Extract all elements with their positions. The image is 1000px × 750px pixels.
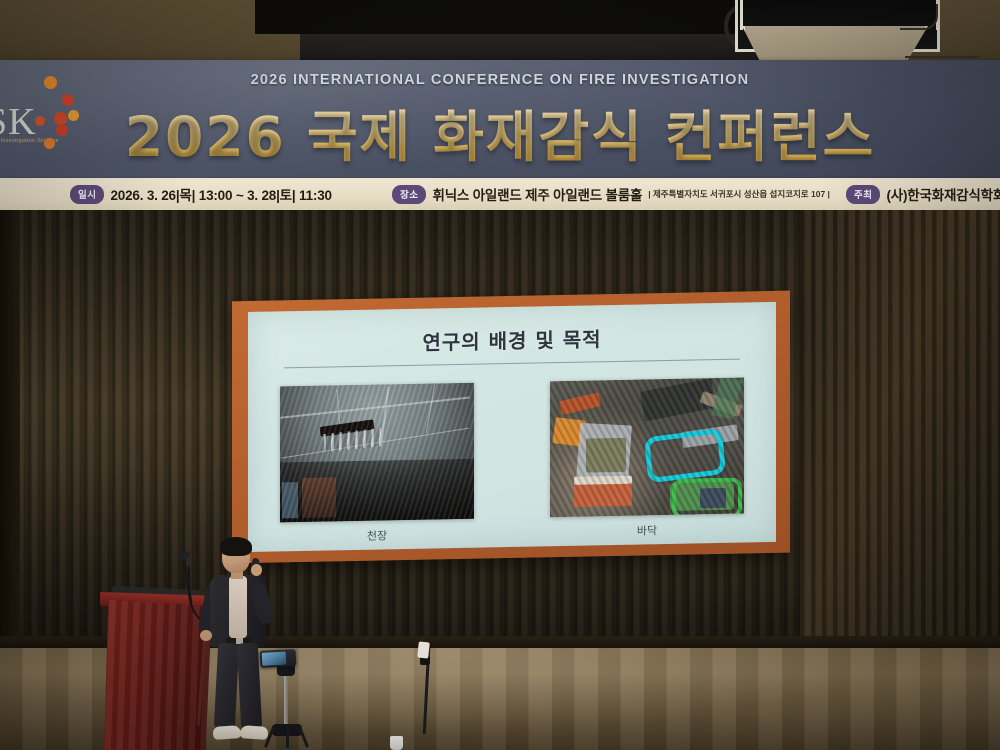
date-value: 2026. 3. 26|목| 13:00 ~ 3. 28|토| 11:30 [110, 184, 331, 204]
banner-english-title: 2026 INTERNATIONAL CONFERENCE ON FIRE IN… [0, 72, 1000, 88]
ceiling-shadow-zone [280, 459, 474, 523]
slide-photo-floor [550, 378, 744, 518]
caption-floor: 바닥 [550, 521, 744, 541]
tripod-legs [268, 726, 306, 750]
audience-phone [417, 641, 430, 658]
paper-cup [390, 736, 403, 750]
conference-banner: SK Fire Investigation Science 2026 INTER… [0, 60, 1000, 186]
projection-screen-frame: 연구의 배경 및 목적 [232, 291, 790, 564]
date-pill-label: 일시 [70, 185, 104, 204]
wall-edge-left [0, 210, 20, 640]
slide-photo-ceiling [280, 383, 474, 523]
cyan-annotation-box [644, 428, 726, 483]
banner-info-bar: 일시 2026. 3. 26|목| 13:00 ~ 3. 28|토| 11:30… [0, 178, 1000, 212]
presenter-shoe-left [213, 725, 242, 740]
slide-divider-rule [284, 359, 740, 369]
venue-address: | 제주특별자치도 서귀포시 성산읍 섭지코지로 107 | [648, 188, 830, 200]
presenter [196, 540, 278, 750]
projection-screen: 연구의 배경 및 목적 [248, 302, 776, 552]
caption-ceiling: 천장 [280, 526, 474, 546]
venue-value: 휘닉스 아일랜드 제주 아일랜드 볼룸홀 [432, 184, 642, 204]
green-annotation-box [672, 478, 742, 518]
presenter-hand-left [200, 630, 212, 641]
ceiling-rod [905, 56, 979, 58]
presenter-leg-right [237, 643, 262, 730]
venue-pill-label: 장소 [392, 185, 426, 204]
slide-title: 연구의 배경 및 목적 [248, 320, 776, 359]
fire-debris-floor-image [550, 378, 744, 518]
presenter-shirt [229, 576, 247, 638]
presenter-hand-right [251, 564, 262, 576]
presenter-hair [220, 537, 252, 556]
ceiling-photo-blue-panel [282, 482, 298, 518]
wall-panel-grain [800, 210, 1000, 640]
smartphone-screen [262, 652, 287, 666]
projector-cable [900, 4, 938, 30]
ceiling-exposed-lath [323, 428, 382, 452]
conference-photo-scene: HITACHI SK Fire Investigation Science 20… [0, 0, 1000, 750]
recording-smartphone [260, 649, 297, 668]
burnt-ceiling-image [280, 383, 474, 523]
presenter-shoe-right [240, 725, 269, 740]
info-group-host: 주최 (사)한국화재감식학회 [846, 184, 1000, 204]
host-value: (사)한국화재감식학회 [886, 184, 1000, 204]
host-pill-label: 주최 [846, 185, 880, 204]
info-group-venue: 장소 휘닉스 아일랜드 제주 아일랜드 볼룸홀 | 제주특별자치도 서귀포시 성… [392, 184, 830, 204]
presenter-leg-left [214, 643, 239, 730]
ceiling-photo-door [302, 477, 336, 518]
projector-arm-left [740, 0, 743, 30]
info-group-date: 일시 2026. 3. 26|목| 13:00 ~ 3. 28|토| 11:30 [70, 184, 332, 204]
banner-korean-title: 2026 국제 화재감식 컨퍼런스 [0, 92, 1000, 172]
ceiling-burn-hole [320, 419, 375, 437]
